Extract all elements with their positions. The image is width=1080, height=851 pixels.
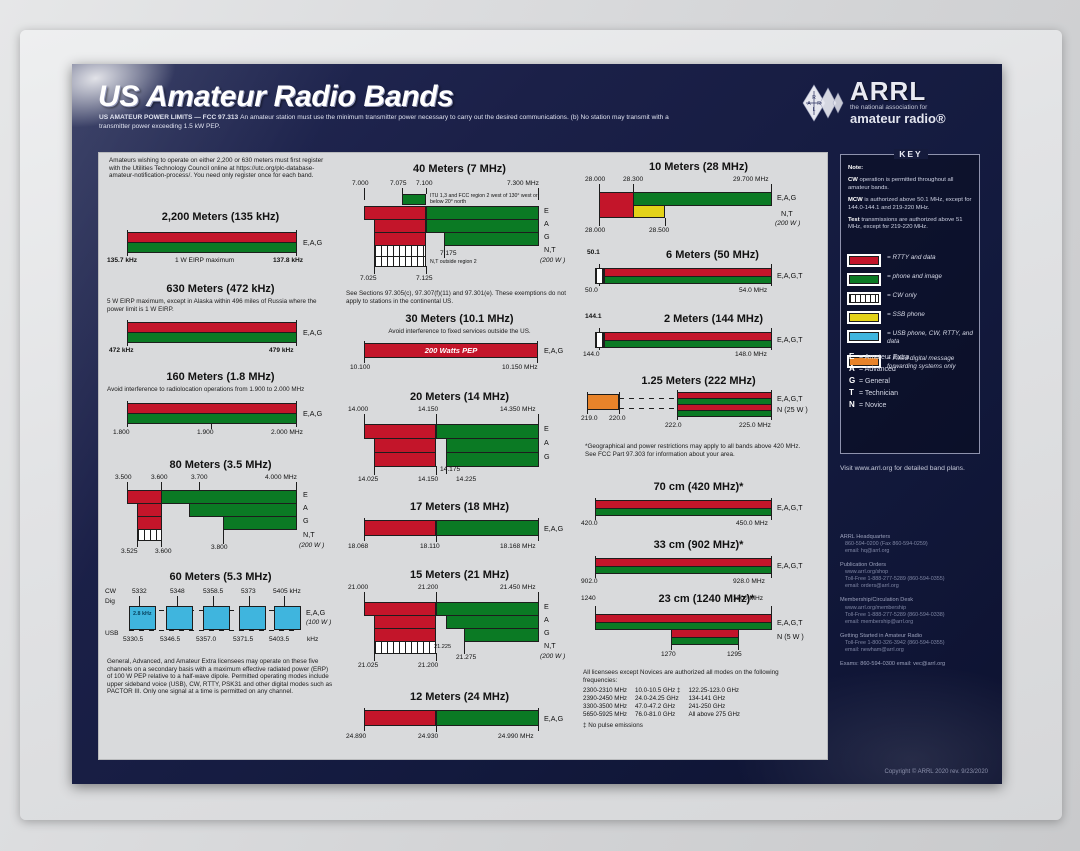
- tick: [537, 341, 538, 363]
- band-20m-class-g: G: [544, 452, 550, 462]
- tick: [213, 596, 214, 606]
- band-40m-top-2: 7.100: [416, 180, 433, 188]
- band-15m-class-a: A: [544, 615, 549, 625]
- arrl-contact-info: ARRL Headquarters 860-594-0200 (Fax 860-…: [840, 534, 990, 675]
- tick: [538, 592, 539, 602]
- key-notes: Note: CW operation is permitted througho…: [848, 165, 974, 237]
- key-swatch-row: = RTTY and data: [847, 253, 975, 272]
- band-40m: 40 Meters (7 MHz) 7.000 7.075 7.100 7.30…: [342, 163, 577, 308]
- band-60m-top-0: 5332: [132, 588, 147, 596]
- band-15m-top-1: 21.200: [418, 584, 438, 592]
- tick: [374, 266, 375, 274]
- band-15m-g-red: [374, 628, 436, 642]
- tick: [538, 518, 539, 541]
- license-class-row: N= Novice: [849, 399, 909, 411]
- band-60m-power: (100 W ): [306, 618, 331, 628]
- band-70cm-title: 70 cm (420 MHz)*: [581, 481, 816, 494]
- key-swatch-row: = CW only: [847, 291, 975, 310]
- band-80m-class-nt: N,T: [303, 530, 315, 540]
- band-10m-red-seg: [599, 192, 634, 218]
- freq-cell: 122.25-123.0 GHz: [688, 687, 740, 695]
- band-15m-e-green: [436, 602, 539, 616]
- tick: [771, 264, 772, 286]
- band-33cm-left-label: 902.0: [581, 578, 598, 586]
- band-23cm-novice: N (5 W ): [777, 632, 804, 642]
- band-10m-novice-power: (200 W ): [775, 219, 800, 229]
- license-label: = Amateur Extra: [859, 354, 909, 361]
- tick: [771, 498, 772, 520]
- band-12m-green-seg: [436, 710, 539, 726]
- band-12m-title: 12 Meters (24 MHz): [342, 691, 577, 704]
- band-23cm: 1240 1300 MHz 23 cm (1240 MHz)* E,A,G,T …: [581, 593, 816, 662]
- svg-text:R: R: [817, 101, 821, 107]
- band-80m: 80 Meters (3.5 MHz) 3.500 3.600 3.700 4.…: [103, 459, 338, 570]
- band-40m-nt-cw-2: [374, 256, 426, 267]
- intro-text-block: Amateurs wishing to operate on either 2,…: [103, 157, 338, 180]
- band-20m-top-2: 14.350 MHz: [500, 406, 536, 414]
- band-80m-e-green: [161, 490, 297, 504]
- swatch-cw-only-icon: [847, 292, 881, 305]
- band-17m-red-seg: [364, 520, 436, 536]
- swatch-cw-only-label: = CW only: [887, 292, 975, 300]
- band-12m-red-seg: [364, 710, 436, 726]
- freq-cell: 10.0-10.5 GHz ‡: [635, 687, 688, 695]
- band-15m-class-nt: N,T: [544, 641, 556, 651]
- band-12m: 12 Meters (24 MHz) E,A,G 24.890 24.930 2…: [342, 691, 577, 744]
- band-80m-bot-0: 3.525: [121, 548, 138, 556]
- band-6m-title: 6 Meters (50 MHz): [609, 249, 816, 262]
- band-15m-title: 15 Meters (21 MHz): [342, 569, 577, 582]
- band-40m-novice-note: N,T outside region 2: [430, 258, 477, 266]
- band-15m-e-red: [364, 602, 436, 616]
- band-70cm-right-label: 450.0 MHz: [736, 520, 768, 528]
- freq-cell: 241-250 GHz: [688, 703, 740, 711]
- band-80m-title: 80 Meters (3.5 MHz): [103, 459, 338, 472]
- band-70cm-green-seg: [595, 508, 772, 516]
- band-40m-g-red: [374, 232, 426, 246]
- tick: [364, 414, 365, 424]
- freq-table-intro: All licensees except Novices are authori…: [583, 669, 814, 684]
- band-6m-green-seg: [604, 276, 772, 284]
- license-class-row: T= Technician: [849, 387, 909, 399]
- tick: [595, 556, 596, 578]
- license-letter: N: [849, 399, 859, 410]
- contact-title: Membership/Circulation Desk: [840, 597, 990, 604]
- band-630m-title: 630 Meters (472 kHz): [103, 283, 338, 296]
- chart-header: US Amateur Radio Bands US AMATEUR POWER …: [72, 64, 1002, 140]
- table-row: 2300-2310 MHz 10.0-10.5 GHz ‡ 122.25-123…: [583, 687, 740, 695]
- key-note-label-text: Note:: [848, 165, 863, 171]
- band-20m-a-green: [446, 438, 539, 453]
- band-40m-title: 40 Meters (7 MHz): [342, 163, 577, 176]
- all-modes-frequency-table: All licensees except Novices are authori…: [581, 669, 816, 730]
- band-60m-top-4: 5405 kHz: [273, 588, 301, 596]
- band-17m-classes: E,A,G: [544, 524, 563, 534]
- freq-cell: 76.0-81.0 GHz: [635, 711, 688, 719]
- band-160m-left-label: 1.800: [113, 429, 130, 437]
- band-23cm-title: 23 cm (1240 MHz)*: [597, 593, 816, 606]
- band-17m: 17 Meters (18 MHz) E,A,G 18.068 18.110 1…: [342, 501, 577, 554]
- tick: [436, 653, 437, 661]
- tick: [296, 320, 297, 346]
- key-note-3-bold: Test: [848, 217, 860, 223]
- page-title: US Amateur Radio Bands: [98, 80, 454, 114]
- band-15m-top-2: 21.450 MHz: [500, 584, 536, 592]
- band-125m-right-label: 225.0 MHz: [739, 422, 771, 430]
- band-160m: 160 Meters (1.8 MHz) Avoid interference …: [103, 371, 338, 437]
- swatch-ssb-phone-icon: [847, 311, 881, 324]
- contact-block: Getting Started in Amateur Radio Toll-Fr…: [840, 633, 990, 654]
- contact-line: email: hq@arrl.org: [840, 548, 990, 555]
- key-note-3: Test transmissions are authorized above …: [848, 217, 974, 232]
- band-125m-orange-seg: [587, 394, 619, 410]
- band-160m-mid-label: 1.900: [197, 429, 214, 437]
- band-60m-lower-guide: [129, 630, 299, 631]
- band-15m-a-red: [374, 615, 436, 629]
- band-40m-e-red: [364, 206, 426, 220]
- band-40m-class-a: A: [544, 219, 549, 229]
- key-note-1-text: operation is permitted throughout all am…: [848, 177, 953, 190]
- contact-line: email: membership@arrl.org: [840, 619, 990, 626]
- contact-line: www.arrl.org/shop: [840, 569, 990, 576]
- band-20m-g-green: [446, 452, 539, 467]
- intro-paragraph: Amateurs wishing to operate on either 2,…: [109, 157, 332, 180]
- band-160m-note: Avoid interference to radiolocation oper…: [107, 386, 334, 394]
- license-class-row: A= Advanced: [849, 363, 909, 375]
- band-60m-usb-label: USB: [105, 630, 119, 638]
- band-column-middle: 40 Meters (7 MHz) 7.000 7.075 7.100 7.30…: [342, 153, 577, 761]
- band-60m-channel-3: [203, 606, 230, 630]
- tick: [364, 188, 365, 200]
- tick: [127, 482, 128, 490]
- tick: [436, 534, 437, 542]
- contact-title: Getting Started in Amateur Radio: [840, 633, 990, 640]
- band-60m-title: 60 Meters (5.3 MHz): [103, 571, 338, 584]
- band-15m: 15 Meters (21 MHz) 21.000 21.200 21.450 …: [342, 569, 577, 684]
- tick: [738, 638, 739, 650]
- band-125m-title: 1.25 Meters (222 MHz): [581, 375, 816, 388]
- band-6m: 50.1 6 Meters (50 MHz) E,A,G,T 50.0 54.0…: [581, 249, 816, 300]
- tick: [374, 466, 375, 475]
- band-125m-green-2: [677, 410, 772, 417]
- band-80m-g-red: [137, 516, 162, 530]
- band-125m-dash-bottom: [619, 408, 677, 409]
- key-note-2: MCW is authorized above 50.1 MHz, except…: [848, 197, 974, 212]
- band-2200m-green-seg: [127, 242, 297, 253]
- band-2m-green-seg: [604, 340, 772, 348]
- contact-title: ARRL Headquarters: [840, 534, 990, 541]
- band-33cm-classes: E,A,G,T: [777, 561, 803, 571]
- tick: [296, 401, 297, 427]
- band-40m-top-0: 7.000: [352, 180, 369, 188]
- band-40m-top-1: 7.075: [390, 180, 407, 188]
- license-letter: E: [849, 351, 859, 362]
- band-40m-bot-2: 7.175: [440, 250, 457, 258]
- band-125m-dash-top: [619, 398, 677, 399]
- tick: [599, 184, 600, 192]
- band-2m-left-label: 144.0: [583, 351, 600, 359]
- table-row: 5650-5925 MHz 76.0-81.0 GHz All above 27…: [583, 711, 740, 719]
- band-40m-footnote: See Sections 97.305(c), 97.307(f)(11) an…: [346, 290, 573, 305]
- band-80m-e-red: [127, 490, 162, 504]
- band-20m-bot-2: 14.225: [456, 476, 476, 484]
- tick: [127, 230, 128, 256]
- key-swatch-row: = phone and image: [847, 272, 975, 291]
- tick: [665, 218, 666, 226]
- tick: [364, 341, 365, 363]
- arrl-band-chart-card: US Amateur Radio Bands US AMATEUR POWER …: [72, 64, 1002, 784]
- band-23cm-nov-left: 1270: [661, 651, 676, 659]
- band-12m-mid-label: 24.930: [418, 733, 438, 741]
- tick: [139, 596, 140, 606]
- band-10m-yellow-seg: [633, 205, 665, 218]
- contact-block: ARRL Headquarters 860-594-0200 (Fax 860-…: [840, 534, 990, 555]
- tick: [364, 592, 365, 602]
- band-60m-bot-1: 5346.5: [160, 636, 180, 644]
- band-6m-cw-seg: [595, 268, 604, 284]
- key-note-2-bold: MCW: [848, 197, 863, 203]
- band-40m-bot-0: 7.025: [360, 275, 377, 283]
- tick: [671, 638, 672, 650]
- geo-restriction-note: *Geographical and power restrictions may…: [581, 443, 816, 461]
- band-630m-classes: E,A,G: [303, 328, 322, 338]
- band-40m-class-e: E: [544, 206, 549, 216]
- band-15m-novice-power: (200 W ): [540, 652, 565, 662]
- swatch-rtty-data-label: = RTTY and data: [887, 254, 975, 262]
- tick: [436, 592, 437, 602]
- band-10m-bot-0: 28.000: [585, 227, 605, 235]
- band-60m-classes: E,A,G: [306, 608, 325, 618]
- license-letter: A: [849, 363, 859, 374]
- swatch-phone-image-label: = phone and image: [887, 273, 975, 281]
- swatch-phone-image-icon: [847, 273, 881, 286]
- band-2m-classes: E,A,G,T: [777, 335, 803, 345]
- band-60m-channel-1: 2.8 kHz: [129, 606, 156, 630]
- tick: [177, 596, 178, 606]
- band-33cm-right-label: 928.0 MHz: [733, 578, 765, 586]
- band-60m-channel-width: 2.8 kHz: [133, 611, 152, 617]
- band-30m-left-label: 10.100: [350, 364, 370, 372]
- key-legend-box: KEY Note: CW operation is permitted thro…: [840, 154, 980, 454]
- band-10m-top-0: 28.000: [585, 176, 605, 184]
- band-125m-orange-left: 219.0: [581, 415, 598, 423]
- band-80m-g-green: [223, 516, 297, 530]
- band-15m-class-e: E: [544, 602, 549, 612]
- key-title-text: KEY: [894, 149, 927, 159]
- key-swatch-row: = SSB phone: [847, 310, 975, 329]
- contact-line: Toll-Free 1-888-277-5289 (860-594-0338): [840, 612, 990, 619]
- band-2200m-right-label: 137.8 kHz: [273, 257, 303, 265]
- band-column-right: 10 Meters (28 MHz) 28.000 28.300 29.700 …: [581, 153, 816, 761]
- arrl-logo-text: ARRL the national association for amateu…: [850, 78, 946, 126]
- tick: [436, 414, 437, 424]
- band-10m-novice-class: N,T: [781, 209, 793, 219]
- band-12m-left-label: 24.890: [346, 733, 366, 741]
- band-160m-right-label: 2.000 MHz: [271, 429, 303, 437]
- band-17m-green-seg: [436, 520, 539, 536]
- key-title: KEY: [841, 149, 981, 159]
- freq-cell: 24.0-24.25 GHz: [635, 695, 688, 703]
- band-60m-top-2: 5358.5: [203, 588, 223, 596]
- band-2200m-title: 2,200 Meters (135 kHz): [103, 211, 338, 224]
- band-20m-e-green: [436, 424, 539, 439]
- band-80m-bot-1: 3.600: [155, 548, 172, 556]
- band-20m-bot-0: 14.025: [358, 476, 378, 484]
- band-160m-title: 160 Meters (1.8 MHz): [103, 371, 338, 384]
- band-40m-bot-1: 7.125: [416, 275, 433, 283]
- band-80m-a-green: [189, 503, 297, 517]
- band-6m-left-label: 50.0: [585, 287, 598, 295]
- band-80m-a-red: [137, 503, 162, 517]
- band-60m: 60 Meters (5.3 MHz) CW Dig USB 5332 5348…: [103, 571, 338, 699]
- tick: [538, 708, 539, 731]
- band-630m-note: 5 W EIRP maximum, except in Alaska withi…: [107, 298, 334, 313]
- swatch-rtty-data-icon: [847, 254, 881, 267]
- freq-cell: 2390-2450 MHz: [583, 695, 635, 703]
- tick: [771, 390, 772, 420]
- band-23cm-left-label: 1240: [581, 595, 596, 603]
- band-15m-bot-3: 21.275: [456, 654, 476, 662]
- tick: [296, 482, 297, 490]
- band-15m-a-green: [446, 615, 539, 629]
- band-60m-description: General, Advanced, and Amateur Extra lic…: [107, 658, 334, 696]
- band-23cm-green-2: [671, 637, 739, 645]
- band-2200m: 2,200 Meters (135 kHz) E,A,G 135.7 kHz 1…: [103, 211, 338, 266]
- band-30m-classes: E,A,G: [544, 346, 563, 356]
- band-20m: 20 Meters (14 MHz) 14.000 14.150 14.350 …: [342, 391, 577, 492]
- band-80m-novice-power: (200 W ): [299, 541, 324, 551]
- freq-cell: 3300-3500 MHz: [583, 703, 635, 711]
- band-15m-g-green: [464, 628, 539, 642]
- band-15m-nt-cw: [374, 641, 436, 654]
- band-10m-classes: E,A,G: [777, 193, 796, 203]
- tick: [249, 596, 250, 606]
- band-20m-title: 20 Meters (14 MHz): [342, 391, 577, 404]
- contact-line: www.arrl.org/membership: [840, 605, 990, 612]
- tick: [127, 401, 128, 427]
- band-20m-top-1: 14.150: [418, 406, 438, 414]
- key-note-2-text: is authorized above 50.1 MHz, except for…: [848, 197, 971, 210]
- contact-block: Exams: 860-594-0300 email: vec@arrl.org: [840, 661, 990, 668]
- band-20m-e-red: [364, 424, 436, 439]
- arrl-wordmark: ARRL: [850, 78, 946, 104]
- band-2m: 144.1 2 Meters (144 MHz) E,A,G,T 144.0 1…: [581, 313, 816, 364]
- license-class-row: G= General: [849, 375, 909, 387]
- tick: [587, 392, 588, 414]
- band-2m-top-label: 144.1: [585, 313, 602, 321]
- band-160m-green-seg: [127, 413, 297, 424]
- band-70cm-classes: E,A,G,T: [777, 503, 803, 513]
- band-60m-channel-5: [274, 606, 301, 630]
- band-40m-novice-power: (200 W ): [540, 256, 565, 266]
- band-70cm: 70 cm (420 MHz)* E,A,G,T 420.0 450.0 MHz: [581, 481, 816, 530]
- contact-title: Exams: 860-594-0300 email: vec@arrl.org: [840, 661, 990, 668]
- band-80m-class-g: G: [303, 516, 309, 526]
- swatch-ssb-phone-label: = SSB phone: [887, 311, 975, 319]
- band-60m-bot-0: 5330.5: [123, 636, 143, 644]
- band-12m-classes: E,A,G: [544, 714, 563, 724]
- band-60m-channel-4: [239, 606, 266, 630]
- band-6m-classes: E,A,G,T: [777, 271, 803, 281]
- tick: [161, 540, 162, 547]
- license-label: = Technician: [859, 390, 898, 397]
- band-10m: 10 Meters (28 MHz) 28.000 28.300 29.700 …: [581, 161, 816, 248]
- contact-line: Toll-Free 1-888-277-5289 (860-594-0355): [840, 576, 990, 583]
- band-40m-a-green: [426, 219, 539, 233]
- band-10m-top-1: 28.300: [623, 176, 643, 184]
- band-20m-class-e: E: [544, 424, 549, 434]
- tick: [137, 540, 138, 547]
- band-125m-novice: N (25 W ): [777, 405, 808, 415]
- band-10m-top-2: 29.700 MHz: [733, 176, 769, 184]
- band-20m-top-0: 14.000: [348, 406, 368, 414]
- tick: [436, 724, 437, 732]
- band-30m-red-seg: 200 Watts PEP: [364, 343, 538, 358]
- freq-cell: All above 275 GHz: [688, 711, 740, 719]
- band-33cm-green-seg: [595, 566, 772, 574]
- band-80m-class-a: A: [303, 503, 308, 513]
- band-23cm-nov-right: 1295: [727, 651, 742, 659]
- band-2200m-classes: E,A,G: [303, 238, 322, 248]
- band-630m-green-seg: [127, 332, 297, 343]
- tick: [436, 466, 437, 475]
- band-15m-bot-0: 21.025: [358, 662, 378, 670]
- band-630m-left-label: 472 kHz: [109, 347, 134, 355]
- license-letter: T: [849, 387, 859, 398]
- tick: [127, 320, 128, 346]
- freq-table-footnote: ‡ No pulse emissions: [583, 722, 814, 730]
- band-20m-class-a: A: [544, 438, 549, 448]
- band-2200m-center-label: 1 W EIRP maximum: [175, 257, 234, 265]
- band-60m-bot-2: 5357.0: [196, 636, 216, 644]
- band-15m-bot-2: 21.225: [434, 643, 451, 651]
- band-40m-inset-note: ITU 1,3 and FCC region 2 west of 130° we…: [430, 193, 540, 205]
- band-125m-orange-right: 220.0: [609, 415, 626, 423]
- band-60m-channel-2: [166, 606, 193, 630]
- band-30m-right-label: 10.150 MHz: [502, 364, 538, 372]
- band-40m-class-g: G: [544, 232, 550, 242]
- band-80m-label-1: 3.600: [151, 474, 168, 482]
- band-80m-bot-2: 3.800: [211, 544, 228, 552]
- contact-line: Toll-Free 1-800-326-3942 (860-594-0355): [840, 640, 990, 647]
- band-20m-g-red: [374, 452, 436, 467]
- band-10m-green-seg: [633, 192, 772, 206]
- band-33cm: 33 cm (902 MHz)* E,A,G,T 902.0 928.0 MHz: [581, 539, 816, 588]
- contact-line: 860-594-0200 (Fax 860-594-0259): [840, 541, 990, 548]
- tick: [426, 266, 427, 274]
- band-15m-top-0: 21.000: [348, 584, 368, 592]
- band-2m-title: 2 Meters (144 MHz): [611, 313, 816, 326]
- geo-note-text: *Geographical and power restrictions may…: [585, 443, 812, 458]
- band-40m-inset-green: [402, 194, 426, 205]
- band-60m-top-3: 5373: [241, 588, 256, 596]
- band-30m-note: Avoid interference to fixed services out…: [346, 328, 573, 336]
- band-33cm-title: 33 cm (902 MHz)*: [581, 539, 816, 552]
- band-2200m-left-label: 135.7 kHz: [107, 257, 137, 265]
- contact-line: email: newham@arrl.org: [840, 647, 990, 654]
- contact-title: Publication Orders: [840, 562, 990, 569]
- freq-table: 2300-2310 MHz 10.0-10.5 GHz ‡ 122.25-123…: [583, 687, 740, 719]
- table-row: 3300-3500 MHz 47.0-47.2 GHz 241-250 GHz: [583, 703, 740, 711]
- band-40m-a-red: [374, 219, 426, 233]
- tick: [426, 188, 427, 194]
- band-160m-classes: E,A,G: [303, 409, 322, 419]
- band-40m-top-3: 7.300 MHz: [507, 180, 539, 188]
- band-60m-bot-4: 5403.5: [269, 636, 289, 644]
- tick: [771, 328, 772, 350]
- key-note-3-text: transmissions are authorized above 51 MH…: [848, 217, 963, 230]
- band-chart-panel: Amateurs wishing to operate on either 2,…: [98, 152, 828, 760]
